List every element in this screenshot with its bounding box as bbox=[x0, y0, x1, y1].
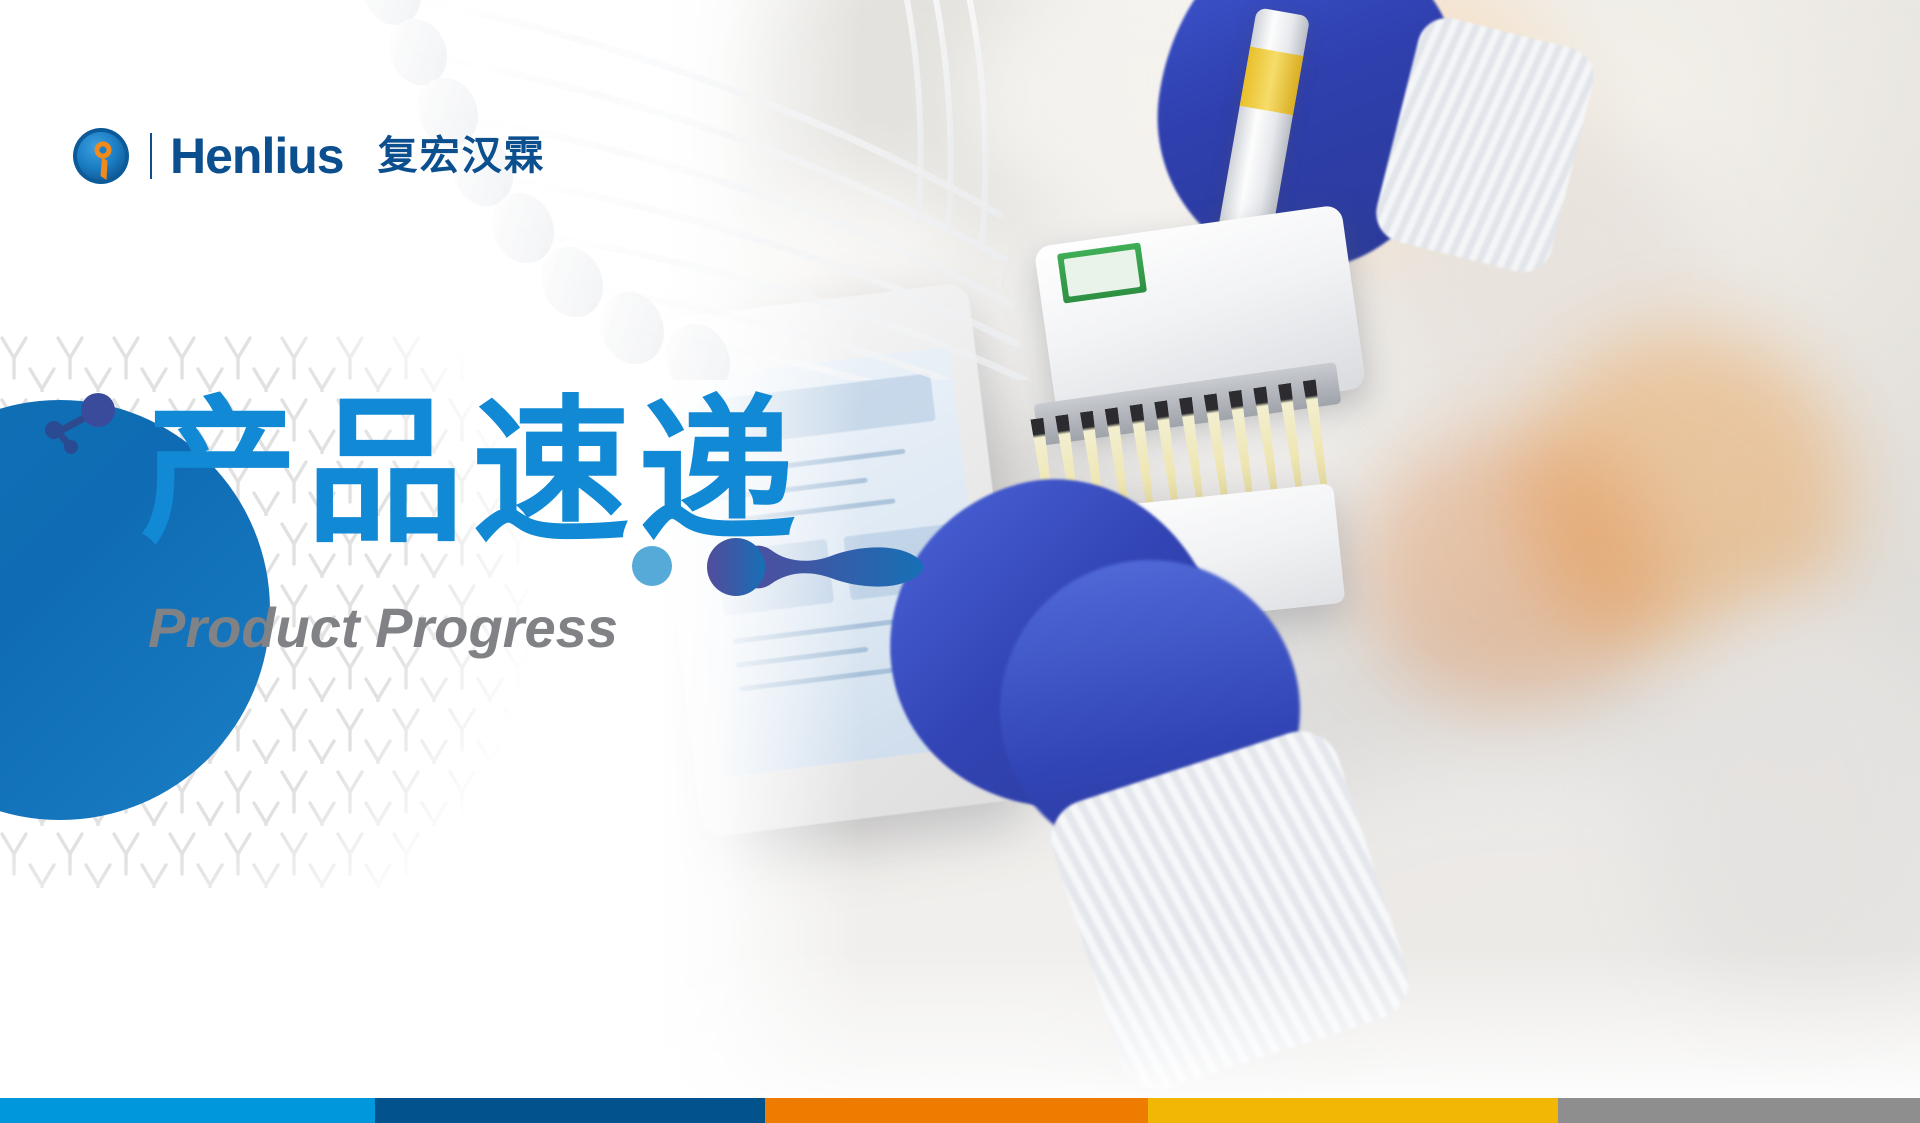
bottom-color-bar bbox=[0, 1098, 1920, 1123]
logo-brand-cn: 复宏汉霖 bbox=[378, 136, 546, 176]
logo-brand-en: Henlius bbox=[170, 131, 344, 181]
henlius-emblem-icon bbox=[72, 127, 130, 185]
molecule-icon-small bbox=[30, 390, 140, 470]
bar-segment-amber bbox=[1148, 1098, 1558, 1123]
slide-subtitle-en: Product Progress bbox=[148, 600, 618, 656]
photo-bottom-fade bbox=[660, 948, 1920, 1098]
bar-segment-orange bbox=[765, 1098, 1148, 1123]
henlius-logo[interactable]: Henlius 复宏汉霖 bbox=[72, 125, 546, 187]
bar-segment-gray bbox=[1558, 1098, 1920, 1123]
slide-title-cn: 产品速递 bbox=[140, 394, 804, 552]
cover-slide: Henlius 复宏汉霖 产品速递 Product Progress bbox=[0, 0, 1920, 1123]
bar-segment-light-blue bbox=[0, 1098, 375, 1123]
bar-segment-navy-blue bbox=[375, 1098, 765, 1123]
logo-divider bbox=[150, 133, 152, 179]
